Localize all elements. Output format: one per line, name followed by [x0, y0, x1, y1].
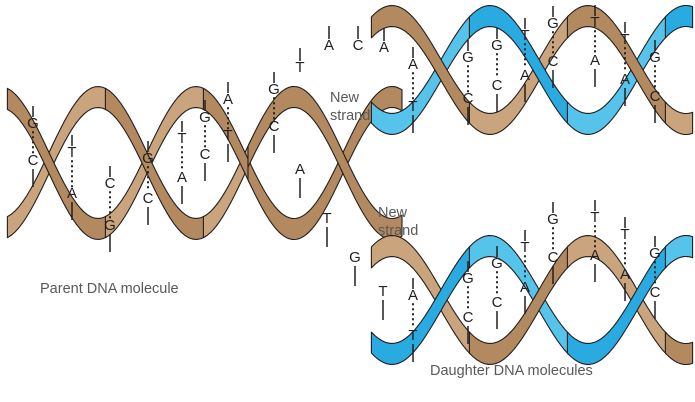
parent-pair-1-top-base: T — [67, 144, 76, 161]
parent-lower-1-base: T — [322, 210, 331, 227]
dtop-pair-4-bottom-base: C — [548, 53, 559, 70]
dtop-pair-7-top-base: G — [649, 49, 661, 66]
dbot-pair-2-top-base: G — [491, 255, 503, 272]
base-pair-layer: GCTACGGCTAGCATGCTACATGTATGCGCTAGCTATAGCA… — [27, 5, 661, 362]
dtop-pair-0-top-base: A — [408, 56, 418, 73]
parent-pair-3-top-base: G — [142, 150, 154, 167]
dbot-pair-0-top-base: A — [408, 287, 418, 304]
parent-pair-6-bottom-base: T — [223, 127, 232, 144]
dtop-pair-5-bottom-base: A — [590, 52, 600, 69]
dtop-pair-6-top-base: T — [620, 31, 629, 48]
dbot-pair-4-top-base: G — [547, 211, 559, 228]
dtop-pair-2-top-base: G — [491, 37, 503, 54]
dtop-pair-0-bottom-base: T — [408, 98, 417, 115]
new-strand-top-line2: strand — [330, 107, 370, 125]
dna-diagram-svg: GCTACGGCTAGCATGCTACATGTATGCGCTAGCTATAGCA… — [0, 0, 695, 402]
parent-pair-4-top-base: T — [177, 130, 186, 147]
dna-replication-figure: GCTACGGCTAGCATGCTACATGTATGCGCTAGCTATAGCA… — [0, 0, 695, 402]
dbot-pair-5-top-base: T — [590, 209, 599, 226]
parent-pair-3-bottom-base: C — [143, 190, 154, 207]
parent-lower-2-base: G — [349, 249, 361, 266]
dbot-pair-3-bottom-base: A — [520, 279, 530, 296]
parent-upper-0-base: T — [295, 59, 304, 76]
new-strand-top-line1: New — [330, 89, 370, 107]
parent-upper-1-base: A — [324, 37, 334, 54]
parent-pair-5-top-base: G — [199, 109, 211, 126]
dtop-pair-7-bottom-base: C — [650, 88, 661, 105]
dbot-pair-0-bottom-base: T — [408, 327, 417, 344]
dbot-pair-6-bottom-base: A — [620, 266, 630, 283]
dbot-pair-6-top-base: T — [620, 226, 629, 243]
daughter-dna-bottom — [371, 236, 692, 365]
dbot-pair-3-top-base: T — [520, 239, 529, 256]
parent-dna-caption: Parent DNA molecule — [40, 281, 179, 297]
dtop-pair-5-top-base: T — [590, 14, 599, 31]
parent-pair-0-top-base: G — [27, 115, 39, 132]
parent-pair-0-bottom-base: C — [28, 152, 39, 169]
parent-pair-2-top-base: C — [105, 175, 116, 192]
parent-lower-0-base: A — [295, 161, 305, 178]
dtop-pair-2-bottom-base: C — [492, 77, 503, 94]
parent-pair-2-bottom-base: G — [104, 217, 116, 234]
parent-pair-4-bottom-base: A — [177, 169, 187, 186]
dtop-pair-1-top-base: G — [462, 49, 474, 66]
parent-pair-7-top-base: G — [268, 81, 280, 98]
new-strand-bottom-line1: New — [378, 204, 418, 222]
daughter-dna-top — [371, 6, 692, 135]
dbot-pair-1-bottom-base: C — [463, 309, 474, 326]
dtop-pair-3-bottom-base: A — [520, 67, 530, 84]
new-strand-label-bottom: New strand — [378, 204, 418, 240]
new-strand-bottom-line2: strand — [378, 222, 418, 240]
dbot-pair-2-bottom-base: C — [492, 294, 503, 311]
dbot-pair-5-bottom-base: A — [590, 247, 600, 264]
parent-pair-6-top-base: A — [223, 91, 233, 108]
dbot-pair-7-top-base: G — [649, 245, 661, 262]
dtop-upper-0-base: A — [379, 39, 389, 56]
daughter-dna-caption: Daughter DNA molecules — [430, 363, 593, 379]
parent-pair-5-bottom-base: C — [200, 146, 211, 163]
dbot-pair-7-bottom-base: C — [650, 284, 661, 301]
parent-pair-1-bottom-base: A — [67, 185, 77, 202]
dtop-pair-6-bottom-base: A — [620, 71, 630, 88]
dbot-pair-4-bottom-base: C — [548, 249, 559, 266]
dtop-pair-1-bottom-base: C — [463, 90, 474, 107]
dbot-pair-1-top-base: G — [462, 270, 474, 287]
dtop-pair-4-top-base: G — [547, 15, 559, 32]
dtop-pair-3-top-base: T — [520, 27, 529, 44]
parent-pair-7-bottom-base: C — [269, 118, 280, 135]
parent-lower-3-base: T — [378, 283, 387, 300]
parent-upper-2-base: C — [353, 37, 364, 54]
new-strand-label-top: New strand — [330, 89, 370, 125]
